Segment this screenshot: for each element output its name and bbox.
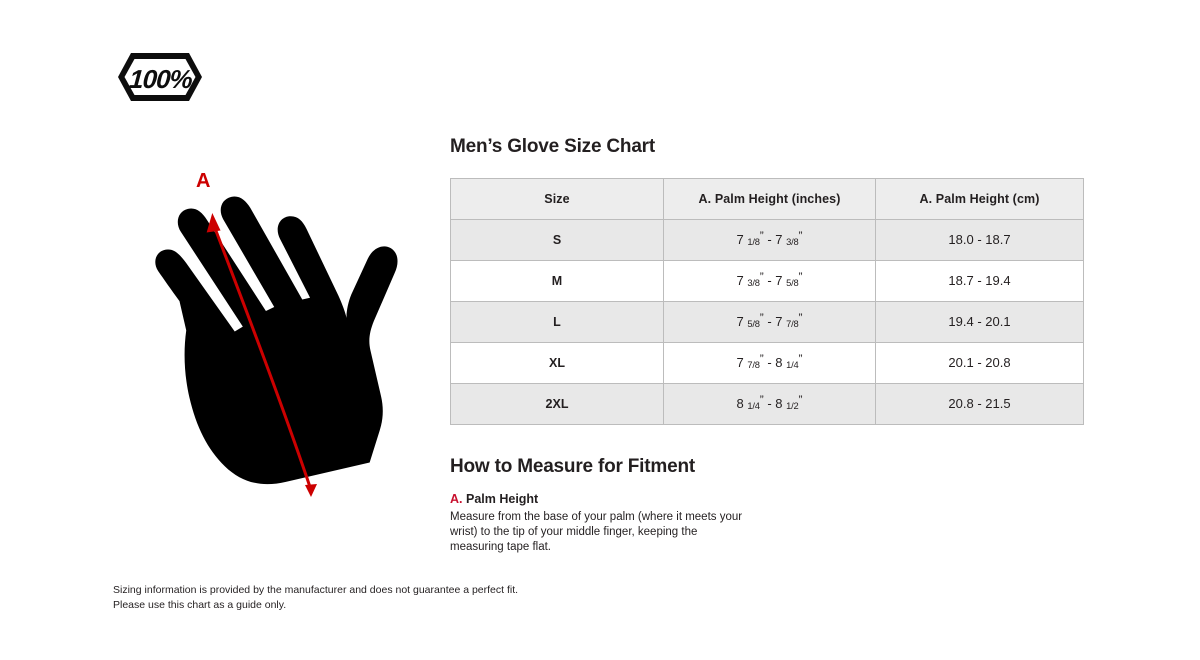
- measurement-letter: A.: [450, 492, 463, 506]
- disclaimer-line-1: Sizing information is provided by the ma…: [113, 583, 518, 598]
- table-header: Size A. Palm Height (inches) A. Palm Hei…: [451, 178, 1084, 219]
- inches-fraction-2: 1/4: [786, 360, 798, 370]
- inches-whole-2: 7: [775, 273, 782, 288]
- inch-mark-2: ”: [799, 229, 803, 243]
- cell-palm-inches: 7 7/8” - 8 1/4”: [664, 342, 876, 383]
- inches-fraction-1: 5/8: [747, 319, 759, 329]
- column-header-palm-cm: A. Palm Height (cm): [876, 178, 1084, 219]
- inch-mark-1: ”: [760, 311, 764, 325]
- inches-whole-2: 8: [775, 355, 782, 370]
- column-header-palm-inches: A. Palm Height (inches): [664, 178, 876, 219]
- cell-palm-cm: 19.4 - 20.1: [876, 301, 1084, 342]
- inches-fraction-2: 3/8: [786, 237, 798, 247]
- inches-whole-1: 7: [736, 232, 743, 247]
- inches-fraction-1: 7/8: [747, 360, 759, 370]
- callout-label-a: A: [196, 170, 210, 192]
- inches-whole-2: 7: [775, 314, 782, 329]
- inch-mark-2: ”: [799, 352, 803, 366]
- inch-mark-1: ”: [760, 229, 764, 243]
- measurement-name: Palm Height: [466, 492, 538, 506]
- inch-mark-2: ”: [799, 270, 803, 284]
- table-body: S 7 1/8” - 7 3/8” 18.0 - 18.7 M 7 3/8” -…: [451, 219, 1084, 424]
- disclaimer-line-2: Please use this chart as a guide only.: [113, 598, 518, 613]
- measurement-label: A. Palm Height: [450, 492, 1090, 507]
- cell-palm-inches: 7 1/8” - 7 3/8”: [664, 219, 876, 260]
- table-header-row: Size A. Palm Height (inches) A. Palm Hei…: [451, 178, 1084, 219]
- inch-mark-1: ”: [760, 270, 764, 284]
- inch-mark-2: ”: [799, 393, 803, 407]
- inches-fraction-2: 7/8: [786, 319, 798, 329]
- inches-whole-1: 7: [736, 273, 743, 288]
- cell-palm-inches: 7 5/8” - 7 7/8”: [664, 301, 876, 342]
- hand-illustration: A: [108, 165, 438, 525]
- cell-palm-cm: 18.7 - 19.4: [876, 260, 1084, 301]
- cell-palm-cm: 18.0 - 18.7: [876, 219, 1084, 260]
- inches-whole-2: 8: [775, 396, 782, 411]
- inches-whole-2: 7: [775, 232, 782, 247]
- inches-fraction-1: 1/8: [747, 237, 759, 247]
- disclaimer: Sizing information is provided by the ma…: [113, 583, 518, 613]
- inches-fraction-2: 1/2: [786, 401, 798, 411]
- cell-size: S: [451, 219, 664, 260]
- cell-size: L: [451, 301, 664, 342]
- inches-fraction-1: 3/8: [747, 278, 759, 288]
- inches-fraction-2: 5/8: [786, 278, 798, 288]
- cell-palm-cm: 20.8 - 21.5: [876, 383, 1084, 424]
- size-chart-table: Size A. Palm Height (inches) A. Palm Hei…: [450, 178, 1084, 425]
- cell-size: XL: [451, 342, 664, 383]
- content-column: Men’s Glove Size Chart Size A. Palm Heig…: [450, 136, 1090, 556]
- measurement-description: Measure from the base of your palm (wher…: [450, 510, 750, 556]
- table-row: S 7 1/8” - 7 3/8” 18.0 - 18.7: [451, 219, 1084, 260]
- chart-title: Men’s Glove Size Chart: [450, 136, 1090, 158]
- measurement-arrowhead-bottom: [305, 484, 317, 497]
- inches-whole-1: 8: [736, 396, 743, 411]
- column-header-size: Size: [451, 178, 664, 219]
- table-row: M 7 3/8” - 7 5/8” 18.7 - 19.4: [451, 260, 1084, 301]
- hand-silhouette: [144, 165, 438, 499]
- inch-mark-1: ”: [760, 352, 764, 366]
- inches-whole-1: 7: [736, 355, 743, 370]
- cell-palm-cm: 20.1 - 20.8: [876, 342, 1084, 383]
- cell-size: M: [451, 260, 664, 301]
- table-row: 2XL 8 1/4” - 8 1/2” 20.8 - 21.5: [451, 383, 1084, 424]
- how-to-measure-title: How to Measure for Fitment: [450, 456, 1090, 478]
- inch-mark-2: ”: [799, 311, 803, 325]
- how-to-measure-section: How to Measure for Fitment A. Palm Heigh…: [450, 456, 1090, 556]
- inches-whole-1: 7: [736, 314, 743, 329]
- brand-logo: 100%: [116, 51, 204, 103]
- inches-fraction-1: 1/4: [747, 401, 759, 411]
- table-row: XL 7 7/8” - 8 1/4” 20.1 - 20.8: [451, 342, 1084, 383]
- logo-wordmark: 100%: [128, 64, 193, 94]
- table-row: L 7 5/8” - 7 7/8” 19.4 - 20.1: [451, 301, 1084, 342]
- cell-palm-inches: 7 3/8” - 7 5/8”: [664, 260, 876, 301]
- cell-palm-inches: 8 1/4” - 8 1/2”: [664, 383, 876, 424]
- inch-mark-1: ”: [760, 393, 764, 407]
- cell-size: 2XL: [451, 383, 664, 424]
